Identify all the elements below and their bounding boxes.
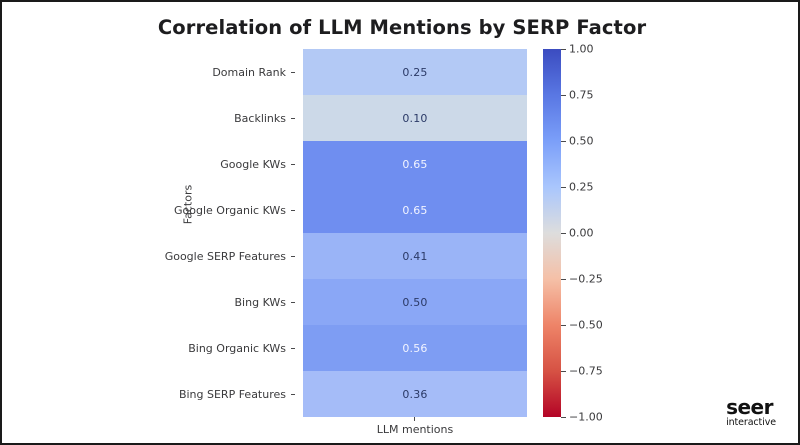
heatmap-cell: 0.56 bbox=[303, 325, 527, 371]
heatmap-cell-value: 0.36 bbox=[402, 388, 427, 401]
y-axis-tick-mark bbox=[291, 118, 295, 119]
y-axis-tick-domain-rank: Domain Rank bbox=[112, 49, 295, 95]
colorbar-tick-label: 0.00 bbox=[569, 227, 594, 240]
colorbar-tick-label: 1.00 bbox=[569, 43, 594, 56]
y-axis-tick-label: Bing KWs bbox=[235, 296, 286, 309]
colorbar-tick-mark bbox=[561, 417, 566, 418]
colorbar-tick-label: 0.50 bbox=[569, 135, 594, 148]
heatmap-cell-value: 0.41 bbox=[402, 250, 427, 263]
colorbar-tick-mark bbox=[561, 371, 566, 372]
y-axis-tick-label: Bing SERP Features bbox=[179, 388, 286, 401]
y-axis-tick-google-organic-kws: Google Organic KWs bbox=[112, 187, 295, 233]
y-axis-tick-mark bbox=[291, 164, 295, 165]
heatmap-cell: 0.50 bbox=[303, 279, 527, 325]
colorbar-tick-label: −0.50 bbox=[569, 319, 603, 332]
y-axis-tick-google-kws: Google KWs bbox=[112, 141, 295, 187]
heatmap-cell: 0.10 bbox=[303, 95, 527, 141]
y-axis-tick-mark bbox=[291, 72, 295, 73]
heatmap-cell: 0.25 bbox=[303, 49, 527, 95]
colorbar-tick-mark bbox=[561, 49, 566, 50]
y-axis-tick-backlinks: Backlinks bbox=[112, 95, 295, 141]
heatmap-cell: 0.65 bbox=[303, 141, 527, 187]
x-axis-tick-mark bbox=[414, 417, 415, 421]
colorbar-tick-mark bbox=[561, 233, 566, 234]
heatmap-cell-value: 0.65 bbox=[402, 204, 427, 217]
y-axis-tick-label: Domain Rank bbox=[212, 66, 286, 79]
heatmap-cell: 0.41 bbox=[303, 233, 527, 279]
colorbar-tick-mark bbox=[561, 279, 566, 280]
page-title: Correlation of LLM Mentions by SERP Fact… bbox=[2, 16, 800, 39]
colorbar-tick-mark bbox=[561, 95, 566, 96]
colorbar-tick-label: 0.25 bbox=[569, 181, 594, 194]
colorbar-tick-mark bbox=[561, 325, 566, 326]
y-axis-tick-mark bbox=[291, 256, 295, 257]
colorbar-gradient bbox=[543, 49, 561, 417]
y-axis-tick-mark bbox=[291, 302, 295, 303]
heatmap-cell: 0.36 bbox=[303, 371, 527, 417]
colorbar-tick-label: −0.75 bbox=[569, 365, 603, 378]
y-axis-tick-bing-organic-kws: Bing Organic KWs bbox=[112, 325, 295, 371]
y-axis-tick-label: Backlinks bbox=[234, 112, 286, 125]
y-axis-tick-bing-kws: Bing KWs bbox=[112, 279, 295, 325]
y-axis-tick-mark bbox=[291, 348, 295, 349]
chart-page: Correlation of LLM Mentions by SERP Fact… bbox=[0, 0, 800, 445]
heatmap-cell-value: 0.25 bbox=[402, 66, 427, 79]
colorbar-tick-label: 0.75 bbox=[569, 89, 594, 102]
seer-interactive-logo: seer interactive bbox=[726, 397, 776, 428]
heatmap-cell-value: 0.10 bbox=[402, 112, 427, 125]
logo-wordmark: seer bbox=[726, 397, 776, 417]
logo-tagline: interactive bbox=[726, 418, 776, 428]
colorbar-tick-mark bbox=[561, 141, 566, 142]
heatmap-cell-value: 0.65 bbox=[402, 158, 427, 171]
y-axis-tick-mark bbox=[291, 210, 295, 211]
y-axis-tick-labels: Domain RankBacklinksGoogle KWsGoogle Org… bbox=[112, 49, 295, 417]
heatmap-cell-value: 0.50 bbox=[402, 296, 427, 309]
heatmap-cell: 0.65 bbox=[303, 187, 527, 233]
y-axis-tick-label: Google Organic KWs bbox=[174, 204, 286, 217]
y-axis-tick-google-serp-features: Google SERP Features bbox=[112, 233, 295, 279]
y-axis-tick-label: Bing Organic KWs bbox=[188, 342, 286, 355]
colorbar-tick-mark bbox=[561, 187, 566, 188]
x-axis-label: LLM mentions bbox=[303, 423, 527, 436]
colorbar-tick-label: −1.00 bbox=[569, 411, 603, 424]
heatmap-plot-area: 0.250.100.650.650.410.500.560.36 bbox=[303, 49, 527, 417]
y-axis-tick-bing-serp-features: Bing SERP Features bbox=[112, 371, 295, 417]
y-axis-tick-label: Google SERP Features bbox=[165, 250, 286, 263]
colorbar-tick-label: −0.25 bbox=[569, 273, 603, 286]
y-axis-tick-mark bbox=[291, 394, 295, 395]
y-axis-tick-label: Google KWs bbox=[220, 158, 286, 171]
heatmap-cell-value: 0.56 bbox=[402, 342, 427, 355]
